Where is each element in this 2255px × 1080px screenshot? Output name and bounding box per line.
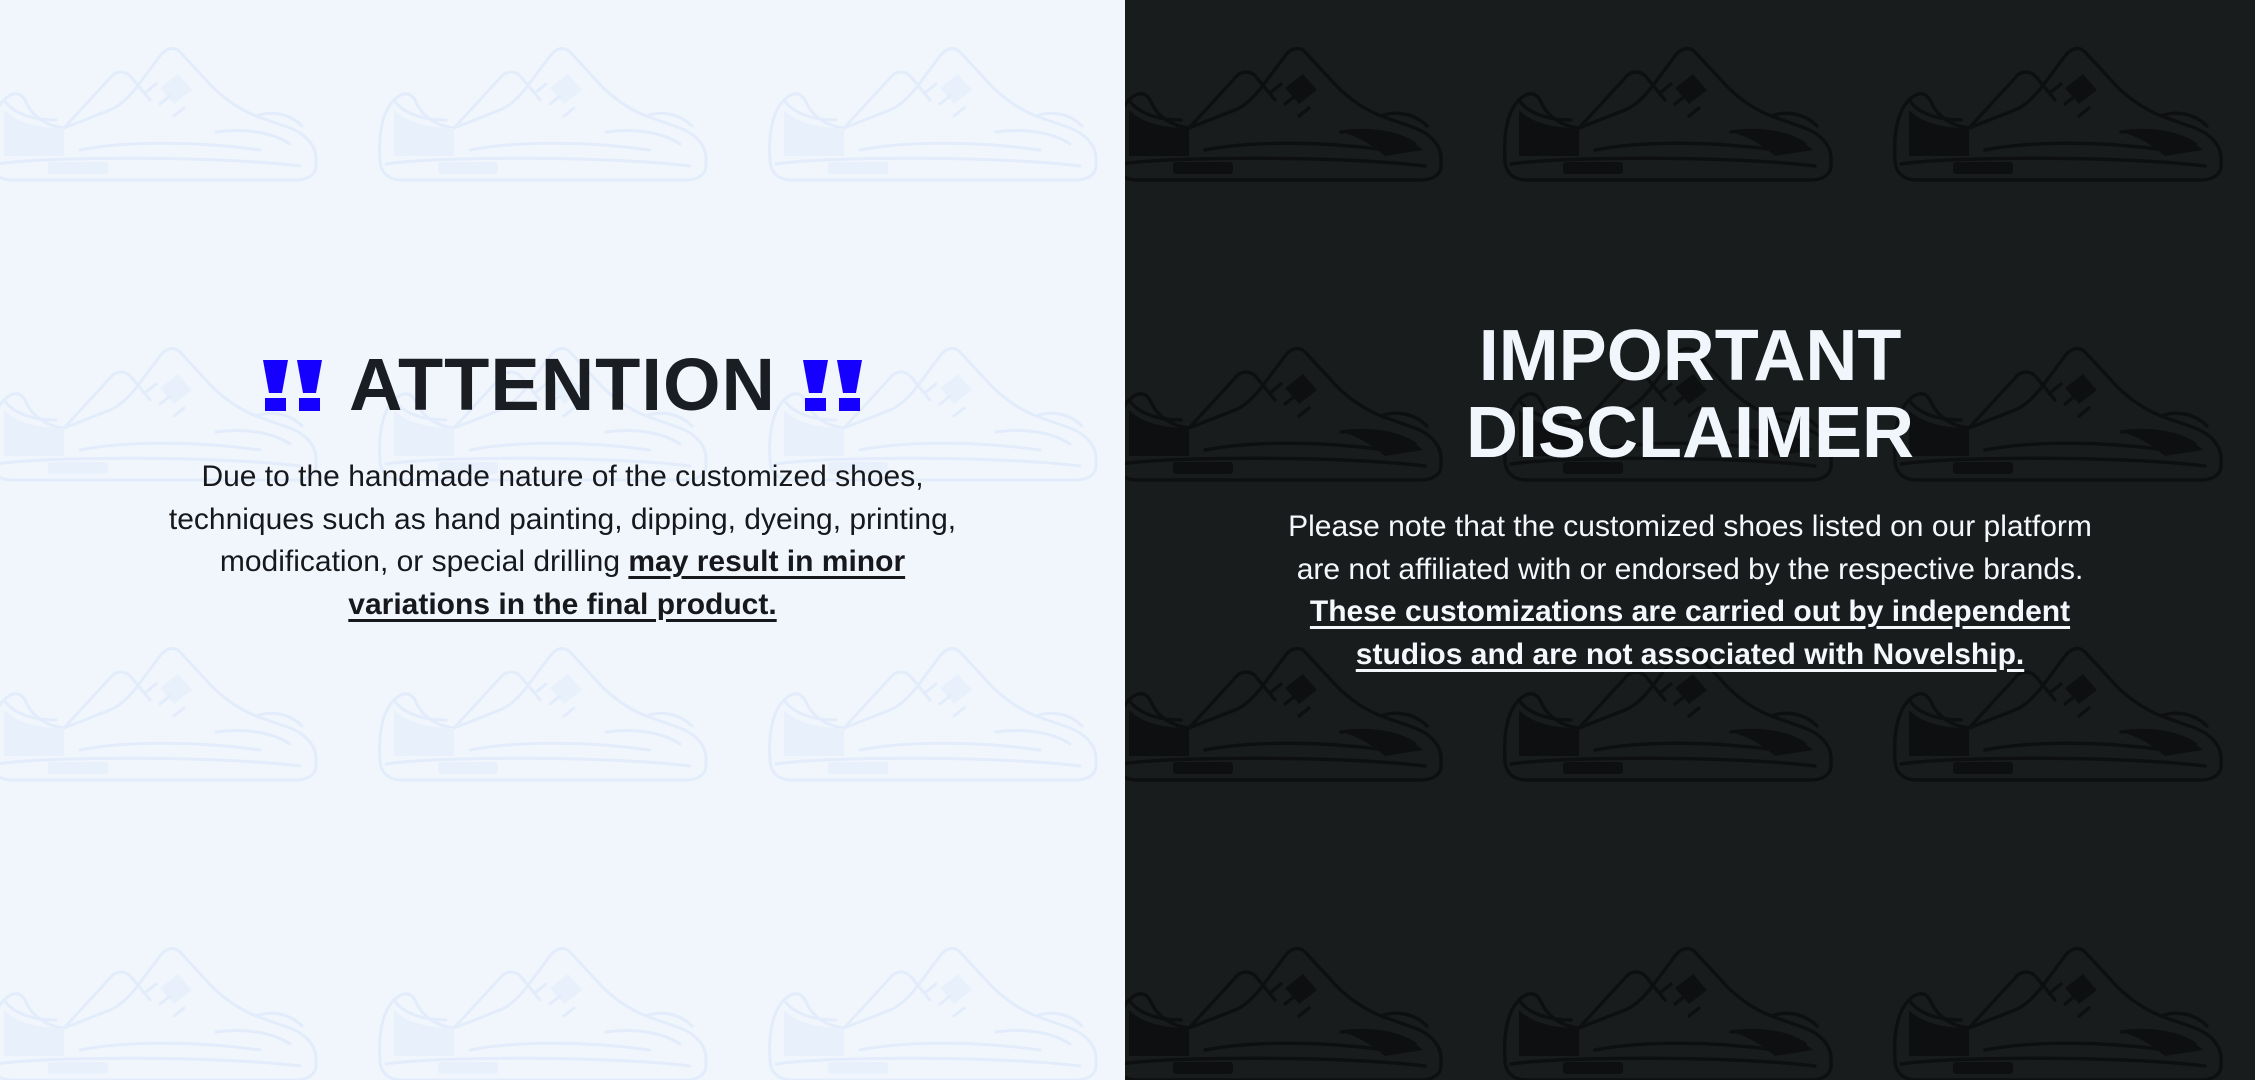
attention-body: Due to the handmade nature of the custom… [158, 456, 968, 626]
disclaimer-body-emphasis: These customizations are carried out by … [1310, 595, 2070, 671]
disclaimer-body: Please note that the customized shoes li… [1281, 506, 2099, 676]
disclaimer-body-normal: Please note that the customized shoes li… [1288, 510, 2092, 586]
attention-panel-content: ATTENTION Due to the handmade nature of … [0, 0, 1125, 626]
disclaimer-heading: IMPORTANT DISCLAIMER [1466, 318, 1914, 472]
disclaimer-banner: ATTENTION Due to the handmade nature of … [0, 0, 2255, 1080]
disclaimer-heading-line2: DISCLAIMER [1466, 395, 1914, 472]
disclaimer-panel-content: IMPORTANT DISCLAIMER Please note that th… [1125, 0, 2255, 676]
double-exclamation-mark-icon-left [262, 359, 323, 411]
attention-panel: ATTENTION Due to the handmade nature of … [0, 0, 1125, 1080]
attention-heading: ATTENTION [262, 348, 863, 422]
double-exclamation-mark-icon-right [802, 359, 863, 411]
disclaimer-panel: IMPORTANT DISCLAIMER Please note that th… [1125, 0, 2255, 1080]
attention-heading-label: ATTENTION [349, 348, 776, 422]
disclaimer-heading-line1: IMPORTANT [1466, 318, 1914, 395]
